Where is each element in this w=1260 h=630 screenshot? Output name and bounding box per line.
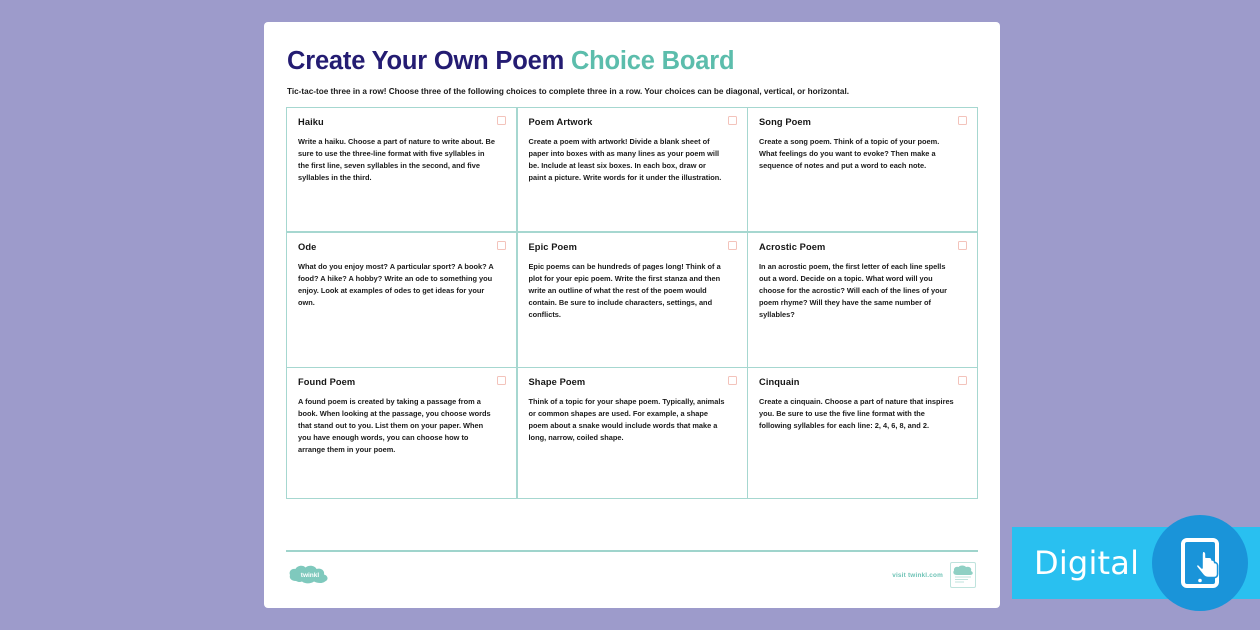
choice-cell-title: Song Poem bbox=[759, 117, 966, 127]
unchecked-checkbox[interactable] bbox=[958, 376, 967, 385]
cloud-badge-glyph-icon bbox=[952, 565, 974, 585]
choice-cell-title: Shape Poem bbox=[529, 377, 736, 387]
unchecked-checkbox[interactable] bbox=[728, 241, 737, 250]
unchecked-checkbox[interactable] bbox=[958, 241, 967, 250]
choice-cell-body: Create a song poem. Think of a topic of … bbox=[759, 136, 966, 172]
worksheet-page: Create Your Own Poem Choice Board Tic-ta… bbox=[264, 22, 1000, 608]
choice-cell-ode[interactable]: Ode What do you enjoy most? A particular… bbox=[287, 233, 516, 367]
unchecked-checkbox[interactable] bbox=[728, 376, 737, 385]
choice-cell-title: Haiku bbox=[298, 117, 505, 127]
twinkl-logo-text: twinkl bbox=[301, 572, 320, 579]
page-title: Create Your Own Poem Choice Board bbox=[287, 48, 978, 75]
choice-cell-poem-artwork[interactable]: Poem Artwork Create a poem with artwork!… bbox=[518, 108, 747, 231]
choice-cell-epic-poem[interactable]: Epic Poem Epic poems can be hundreds of … bbox=[518, 233, 747, 367]
choice-cell-title: Epic Poem bbox=[529, 242, 736, 252]
choice-cell-body: Write a haiku. Choose a part of nature t… bbox=[298, 136, 505, 184]
choice-cell-body: Think of a topic for your shape poem. Ty… bbox=[529, 396, 736, 444]
digital-badge[interactable]: Digital bbox=[1012, 527, 1260, 599]
twinkl-cloud-badge-icon bbox=[950, 562, 976, 588]
choice-cell-body: In an acrostic poem, the first letter of… bbox=[759, 261, 966, 321]
choice-cell-shape-poem[interactable]: Shape Poem Think of a topic for your sha… bbox=[518, 368, 747, 498]
unchecked-checkbox[interactable] bbox=[497, 376, 506, 385]
digital-badge-label: Digital bbox=[1034, 544, 1139, 582]
choice-cell-found-poem[interactable]: Found Poem A found poem is created by ta… bbox=[287, 368, 516, 498]
page-title-main: Create Your Own Poem bbox=[287, 47, 564, 75]
twinkl-logo[interactable]: twinkl bbox=[288, 564, 332, 586]
choice-cell-title: Found Poem bbox=[298, 377, 505, 387]
page-subtitle: Tic-tac-toe three in a row! Choose three… bbox=[287, 86, 977, 98]
choice-cell-body: A found poem is created by taking a pass… bbox=[298, 396, 505, 456]
choice-cell-title: Acrostic Poem bbox=[759, 242, 966, 252]
footer-url-text[interactable]: visit twinkl.com bbox=[892, 572, 943, 579]
unchecked-checkbox[interactable] bbox=[728, 116, 737, 125]
digital-badge-circle bbox=[1152, 515, 1248, 611]
choice-cell-title: Ode bbox=[298, 242, 505, 252]
page-footer: twinkl visit twinkl.com bbox=[286, 544, 978, 599]
choice-cell-title: Cinquain bbox=[759, 377, 966, 387]
choice-board-grid: Haiku Write a haiku. Choose a part of na… bbox=[286, 107, 978, 499]
cloud-logo-icon: twinkl bbox=[288, 564, 332, 586]
page-title-accent: Choice Board bbox=[571, 47, 734, 75]
unchecked-checkbox[interactable] bbox=[497, 116, 506, 125]
choice-cell-title: Poem Artwork bbox=[529, 117, 736, 127]
choice-cell-body: Create a poem with artwork! Divide a bla… bbox=[529, 136, 736, 184]
unchecked-checkbox[interactable] bbox=[497, 241, 506, 250]
choice-cell-haiku[interactable]: Haiku Write a haiku. Choose a part of na… bbox=[287, 108, 516, 231]
choice-cell-body: What do you enjoy most? A particular spo… bbox=[298, 261, 505, 309]
unchecked-checkbox[interactable] bbox=[958, 116, 967, 125]
choice-cell-acrostic-poem[interactable]: Acrostic Poem In an acrostic poem, the f… bbox=[748, 233, 977, 367]
choice-cell-song-poem[interactable]: Song Poem Create a song poem. Think of a… bbox=[748, 108, 977, 231]
choice-cell-body: Epic poems can be hundreds of pages long… bbox=[529, 261, 736, 321]
choice-cell-cinquain[interactable]: Cinquain Create a cinquain. Choose a par… bbox=[748, 368, 977, 498]
choice-cell-body: Create a cinquain. Choose a part of natu… bbox=[759, 396, 966, 432]
tablet-tap-icon bbox=[1169, 532, 1231, 594]
